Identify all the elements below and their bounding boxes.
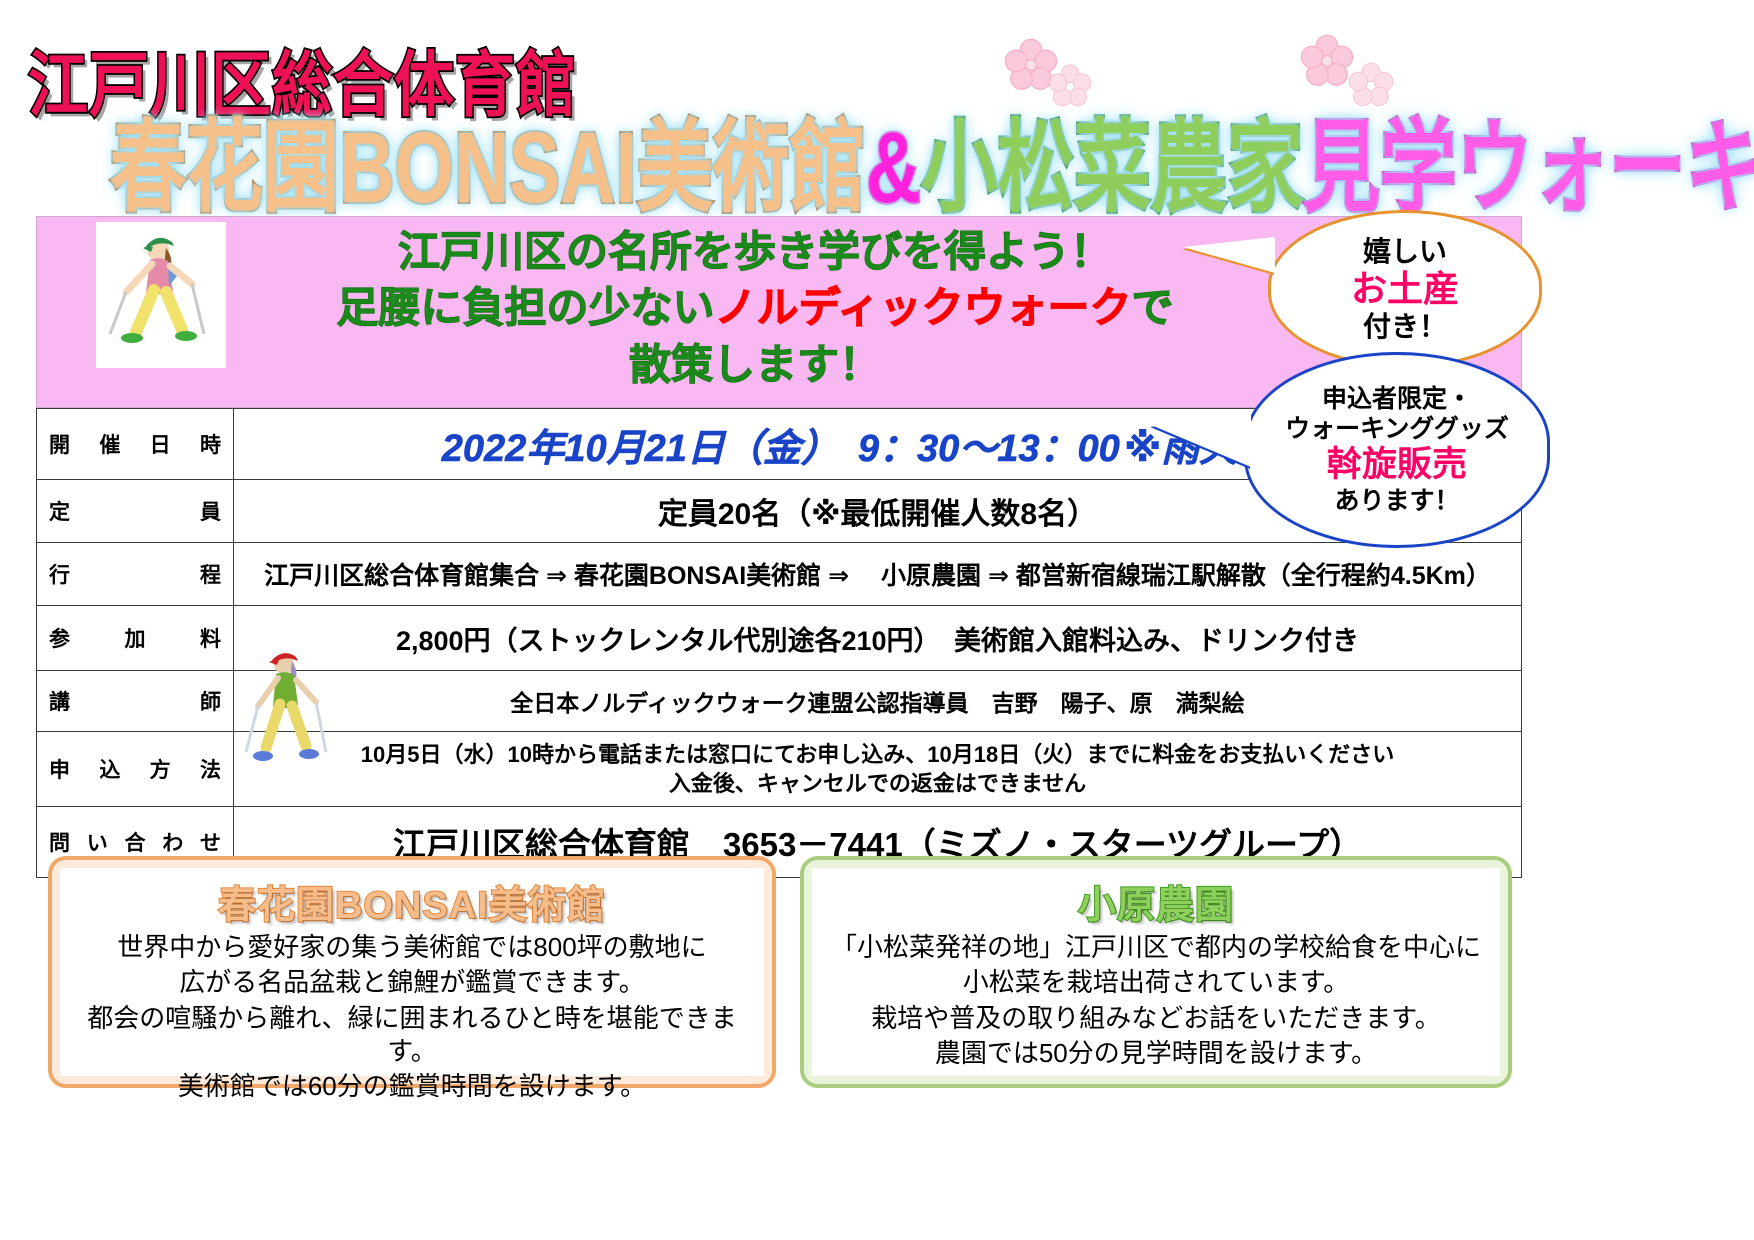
sakura-flower-icon <box>1300 34 1354 88</box>
intro-line2-pre: 足腰に負担の少ない <box>336 284 714 331</box>
intro-line-2: 足腰に負担の少ないノルディックウォークで <box>250 280 1260 336</box>
row-value-fee: 2,800円（ストックレンタル代別途各210円） 美術館入館料込み、ドリンク付き <box>234 606 1522 671</box>
bonsai-card-line-1: 世界中から愛好家の集う美術館では800坪の敷地に <box>70 931 754 964</box>
capacity-sub: （※最低開催人数8名） <box>781 498 1097 531</box>
intro-text: 江戸川区の名所を歩き学びを得よう！ 足腰に負担の少ないノルディックウォークで 散… <box>250 224 1260 393</box>
row-label-apply: 申込方法 <box>37 732 234 807</box>
apply-line-2: 入金後、キャンセルでの返金はできません <box>242 769 1513 798</box>
title-walking-part: 見学ウォーキング <box>1303 111 1754 224</box>
row-label-date: 開催日時 <box>37 409 234 480</box>
row-value-apply: 10月5日（水）10時から電話または窓口にてお申し込み、10月18日（火）までに… <box>234 732 1522 807</box>
row-label-fee: 参加料 <box>37 606 234 671</box>
goods-line-4: あります！ <box>1247 486 1547 516</box>
farm-card-title: 小原農園 <box>822 874 1490 929</box>
instructor-text: 全日本ノルディックウォーク連盟公認指導員 吉野 陽子、原 満梨絵 <box>510 690 1244 716</box>
goods-line-1: 申込者限定・ <box>1247 384 1547 414</box>
route-black-first: 江戸川区総合体育館集合 ⇒ 春花園BONSAI美術館 ⇒ 小原農園 ⇒ <box>264 562 1016 590</box>
row-value-instructor: 全日本ノルディックウォーク連盟公認指導員 吉野 陽子、原 満梨絵 <box>234 671 1522 732</box>
bubble-tail <box>1151 411 1251 467</box>
bonsai-card-line-4: 美術館では60分の鑑賞時間を設けます。 <box>70 1070 754 1103</box>
title-komatsuna-part: 小松菜農家 <box>921 111 1303 224</box>
souvenir-line-2: お土産 <box>1271 268 1539 310</box>
bonsai-card-title: 春花園BONSAI美術館 <box>70 874 754 929</box>
row-value-route: 江戸川区総合体育館集合 ⇒ 春花園BONSAI美術館 ⇒ 小原農園 ⇒ 都営新宿… <box>234 543 1522 606</box>
farm-card-line-3: 栽培や普及の取り組みなどお話をいただきます。 <box>822 1002 1490 1035</box>
intro-line2-post: で <box>1132 284 1174 331</box>
row-label-instructor: 講師 <box>37 671 234 732</box>
fee-text: 2,800円（ストックレンタル代別途各210円） 美術館入館料込み、ドリンク付き <box>396 626 1359 656</box>
intro-line2-highlight: ノルディックウォーク <box>714 284 1131 331</box>
goods-line-3: 斡旋販売 <box>1247 444 1547 486</box>
intro-line-1: 江戸川区の名所を歩き学びを得よう！ <box>250 224 1260 280</box>
title-amp-part: & <box>866 111 921 224</box>
souvenir-line-1: 嬉しい <box>1271 235 1539 268</box>
apply-line-1: 10月5日（水）10時から電話または窓口にてお申し込み、10月18日（火）までに… <box>242 740 1513 769</box>
souvenir-callout-bubble: 嬉しい お土産 付き！ <box>1268 210 1542 368</box>
bonsai-card-line-2: 広がる名品盆栽と錦鯉が鑑賞できます。 <box>70 966 754 999</box>
intro-line-3: 散策します！ <box>250 337 1260 393</box>
nordic-walker-photo <box>96 222 226 368</box>
farm-card-line-4: 農園では50分の見学時間を設けます。 <box>822 1037 1490 1070</box>
bonsai-card-inner: 春花園BONSAI美術館 世界中から愛好家の集う美術館では800坪の敷地に 広が… <box>60 868 764 1076</box>
farm-card-inner: 小原農園 「小松菜発祥の地」江戸川区で都内の学校給食を中心に 小松菜を栽培出荷さ… <box>812 868 1500 1076</box>
nordic-walker-clipart <box>240 640 336 780</box>
route-blue-end: 都営新宿線瑞江駅解散 <box>1016 562 1266 590</box>
ohara-farm-card: 小原農園 「小松菜発祥の地」江戸川区で都内の学校給食を中心に 小松菜を栽培出荷さ… <box>800 856 1512 1088</box>
row-label-route: 行程 <box>37 543 234 606</box>
farm-card-line-2: 小松菜を栽培出荷されています。 <box>822 966 1490 999</box>
route-distance: （全行程約4.5Km） <box>1266 562 1491 590</box>
sakura-flower-icon <box>1348 62 1394 108</box>
goods-callout-bubble: 申込者限定・ ウォーキンググッズ 斡旋販売 あります！ <box>1244 352 1550 548</box>
bonsai-museum-card: 春花園BONSAI美術館 世界中から愛好家の集う美術館では800坪の敷地に 広が… <box>48 856 776 1088</box>
title-bonsai-part: 春花園BONSAI美術館 <box>110 111 866 224</box>
bubble-tail <box>1183 237 1275 273</box>
event-datetime: 2022年10月21日（金） 9：30〜13：00 <box>442 428 1120 470</box>
goods-line-2: ウォーキンググッズ <box>1247 414 1547 444</box>
row-label-capacity: 定員 <box>37 480 234 543</box>
title-block: 江戸川区総合体育館 春花園BONSAI美術館&小松菜農家見学ウォーキング <box>0 0 1754 215</box>
bonsai-card-line-3: 都会の喧騒から離れ、緑に囲まれるひと時を堪能できます。 <box>70 1002 754 1069</box>
table-row: 行程 江戸川区総合体育館集合 ⇒ 春花園BONSAI美術館 ⇒ 小原農園 ⇒ 都… <box>37 543 1522 606</box>
page-title-main: 春花園BONSAI美術館&小松菜農家見学ウォーキング <box>110 88 1754 231</box>
farm-card-line-1: 「小松菜発祥の地」江戸川区で都内の学校給食を中心に <box>822 931 1490 964</box>
souvenir-line-3: 付き！ <box>1271 310 1539 343</box>
sakura-flower-icon <box>1048 64 1092 108</box>
capacity-main: 定員20名 <box>658 498 781 531</box>
